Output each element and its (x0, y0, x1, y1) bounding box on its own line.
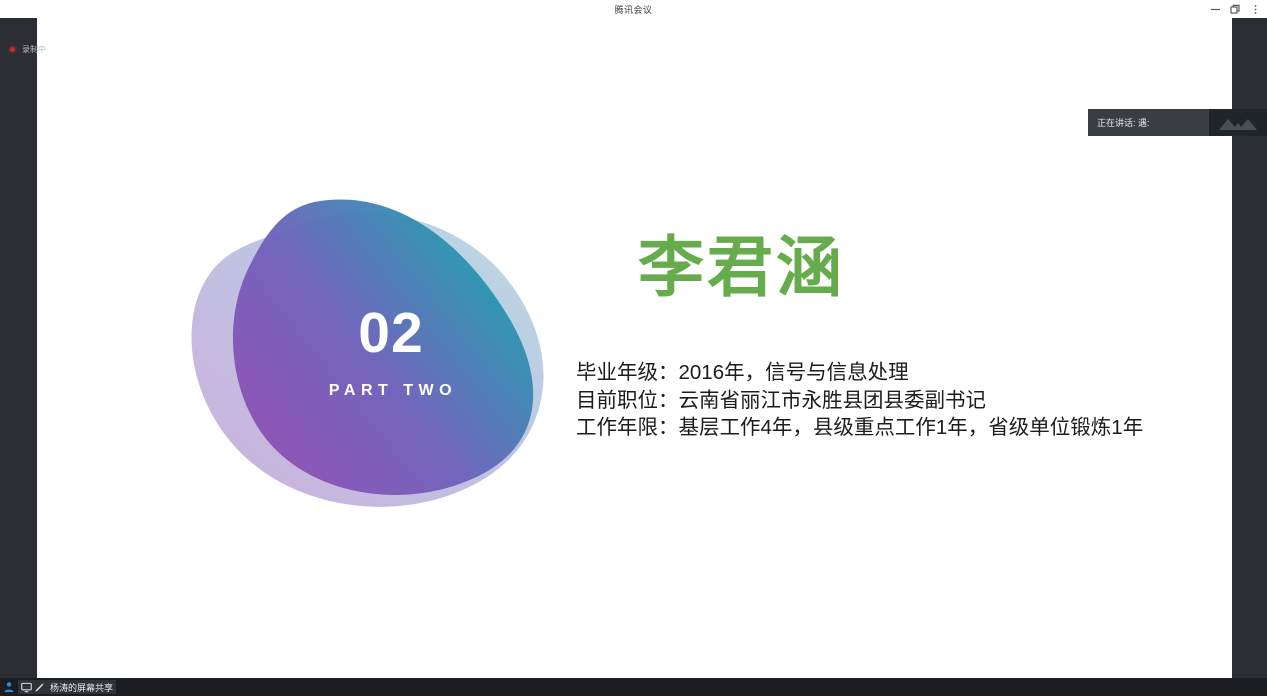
screen-share-indicator[interactable]: 杨涛的屏幕共享 (18, 680, 116, 694)
slide-body-line-1: 毕业年级：2016年，信号与信息处理 (576, 359, 1161, 387)
slide-body-text: 毕业年级：2016年，信号与信息处理 目前职位：云南省丽江市永胜县团县委副书记 … (576, 359, 1161, 442)
pencil-icon (34, 682, 45, 693)
mountain-logo-icon (1217, 114, 1259, 132)
window-controls (1205, 0, 1265, 18)
slide-body-line-2: 目前职位：云南省丽江市永胜县团县委副书记 (576, 387, 1161, 415)
window-titlebar: 腾讯会议 (0, 0, 1267, 18)
close-icon[interactable] (1245, 0, 1265, 18)
active-speaker-label: 正在讲话: 遇: (1088, 116, 1150, 129)
window-title: 腾讯会议 (614, 3, 652, 16)
recording-dot-icon (8, 45, 17, 54)
speaker-video-thumbnail[interactable] (1209, 109, 1267, 136)
monitor-icon (21, 682, 32, 693)
recording-label: 录制中 (22, 44, 46, 55)
page-title: 李君涵 (638, 234, 845, 300)
recording-indicator[interactable]: 录制中 (8, 44, 46, 55)
slide-body-line-3: 工作年限：基层工作4年，县级重点工作1年，省级单位锻炼1年 (576, 414, 1161, 442)
restore-icon[interactable] (1225, 0, 1245, 18)
active-speaker-banner[interactable]: 正在讲话: 遇: (1088, 109, 1267, 136)
minimize-icon[interactable] (1205, 0, 1225, 18)
shared-screen-slide[interactable]: 02 PART TWO 李君涵 毕业年级：2016年，信号与信息处理 目前职位：… (37, 18, 1232, 678)
user-icon[interactable] (2, 681, 15, 694)
taskbar[interactable]: 杨涛的屏幕共享 (0, 678, 1267, 696)
screen-share-label: 杨涛的屏幕共享 (50, 681, 113, 694)
part-blob-graphic: 02 PART TWO (172, 183, 572, 528)
